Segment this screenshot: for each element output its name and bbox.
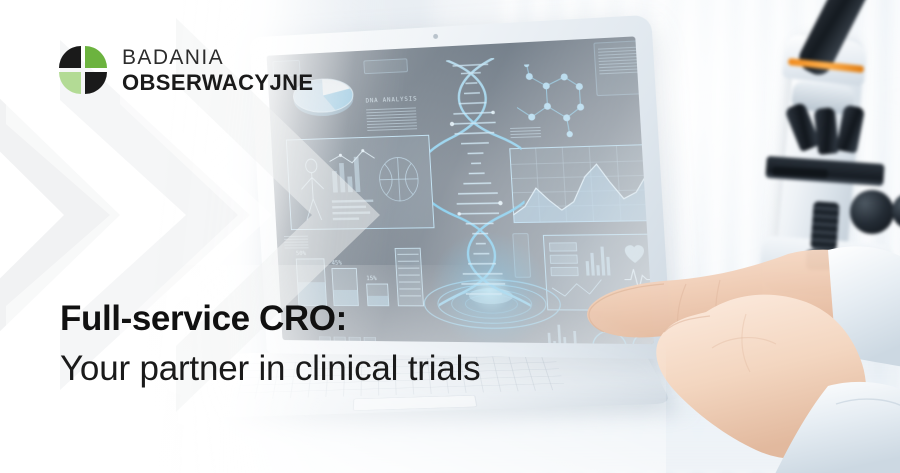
quadrant-circle-logo-icon — [57, 44, 109, 96]
hero-headline: Full-service CRO: — [60, 298, 480, 339]
hero-banner: DNA ANALYSIS — [0, 0, 900, 473]
brand-name-line1: BADANIA — [122, 47, 313, 68]
brand-name-line2: OBSERWACYJNE — [122, 72, 313, 94]
brand-wordmark: BADANIA OBSERWACYJNE — [122, 47, 313, 94]
hero-subheadline: Your partner in clinical trials — [60, 348, 480, 389]
hero-text-block: Full-service CRO: Your partner in clinic… — [60, 298, 480, 390]
hero-content: BADANIA OBSERWACYJNE Full-service CRO: Y… — [0, 0, 900, 473]
brand-logo[interactable]: BADANIA OBSERWACYJNE — [57, 44, 313, 96]
